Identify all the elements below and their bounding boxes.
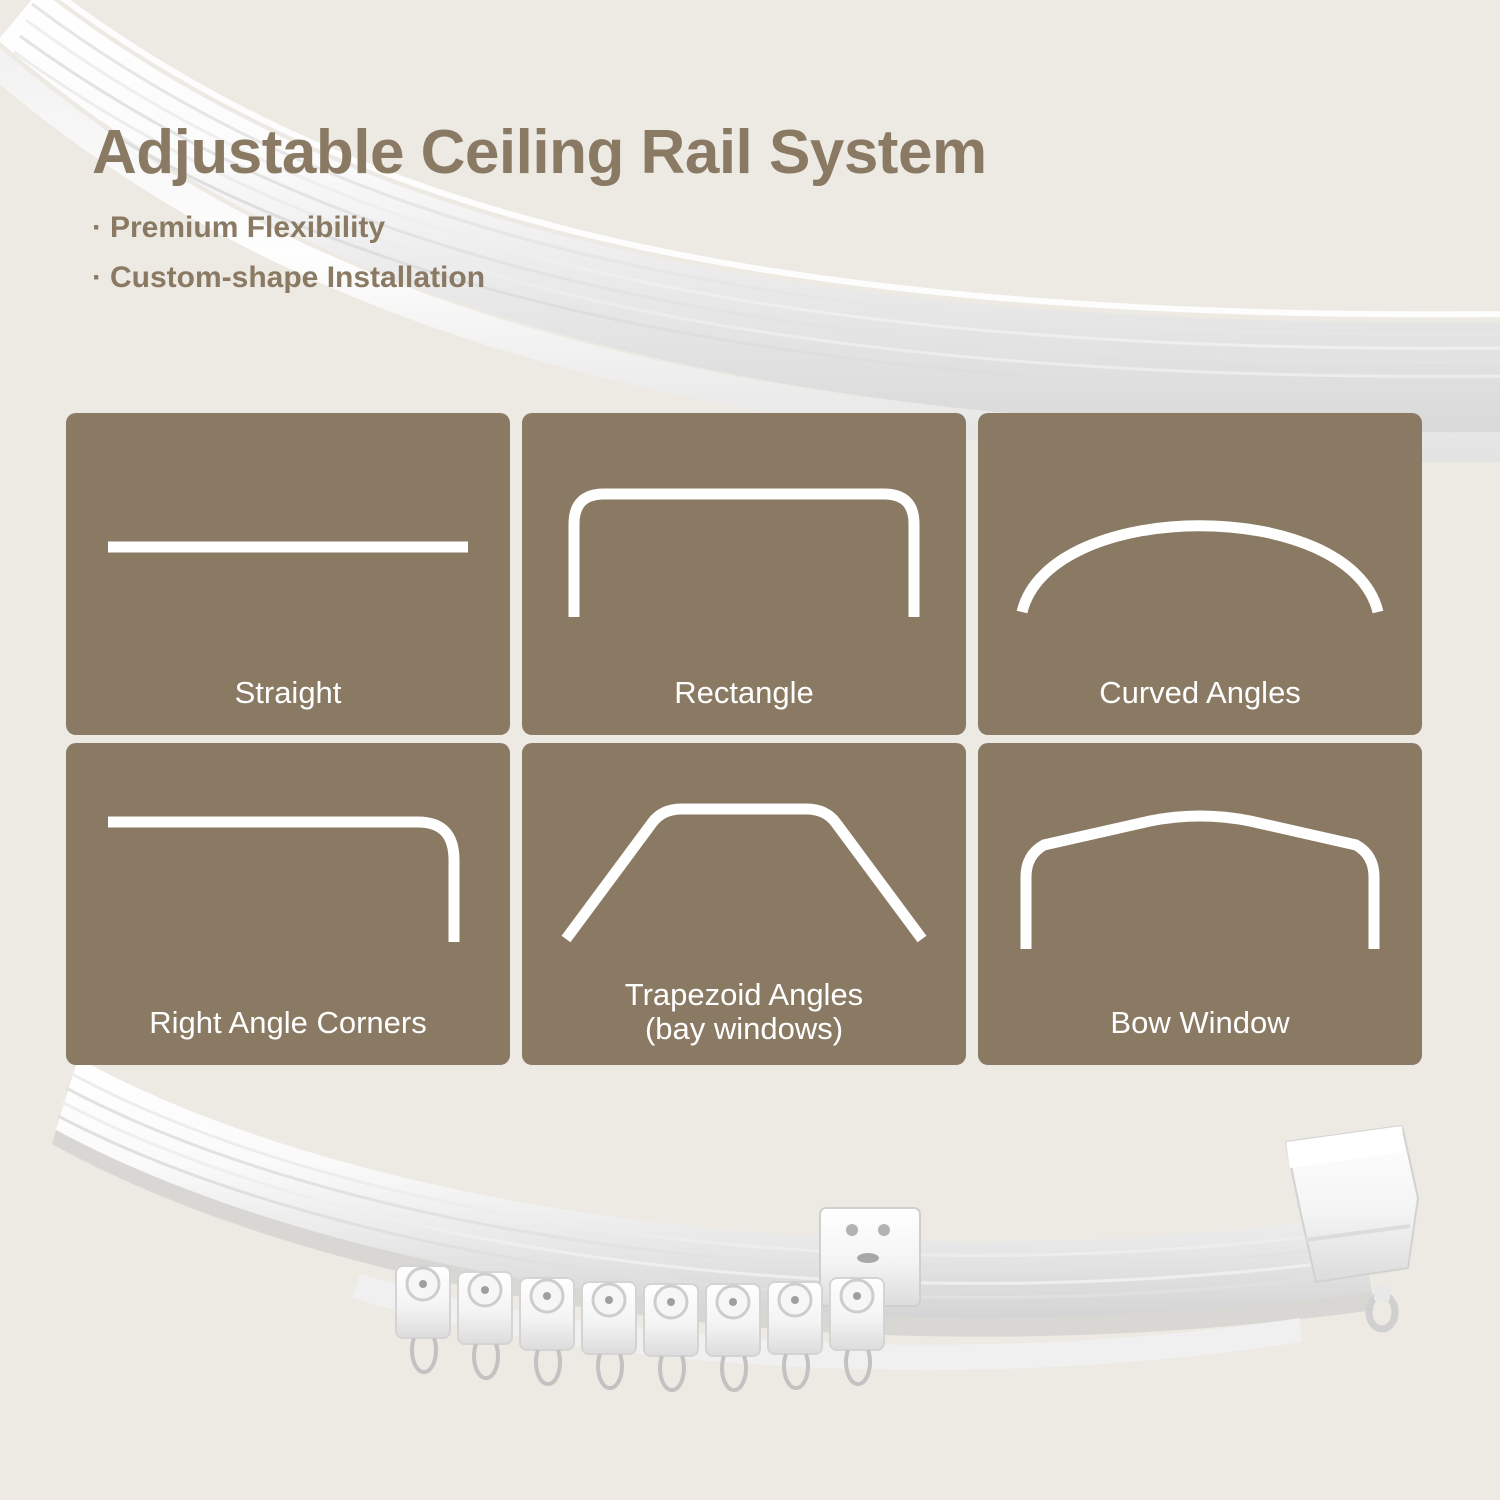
shape-card-straight: Straight: [66, 413, 510, 735]
shape-card-label: Bow Window: [990, 1006, 1410, 1041]
rail-hardware-photo: [0, 1090, 1500, 1500]
roller-glider-group: [396, 1266, 884, 1390]
product-infographic: Adjustable Ceiling Rail System · Premium…: [0, 0, 1500, 1500]
shape-card-label: Rectangle: [534, 676, 954, 711]
rectangle-rail-icon: [522, 459, 966, 634]
trapezoid-rail-icon: [522, 779, 966, 954]
shape-card-bow-window: Bow Window: [978, 743, 1422, 1065]
feature-bullet-label: Custom-shape Installation: [110, 261, 485, 295]
right-angle-rail-icon: [66, 789, 510, 964]
feature-bullet: · Custom-shape Installation: [92, 261, 1342, 295]
shape-card-rectangle: Rectangle: [522, 413, 966, 735]
shape-options-grid: Straight Rectangle Curved Angles: [66, 413, 1434, 1065]
page-title: Adjustable Ceiling Rail System: [92, 120, 1342, 185]
shape-card-sublabel: (bay windows): [534, 1012, 954, 1047]
bow-window-rail-icon: [978, 789, 1422, 964]
bullet-marker-icon: ·: [92, 213, 110, 243]
shape-card-label: Right Angle Corners: [78, 1006, 498, 1041]
feature-bullet-list: · Premium Flexibility · Custom-shape Ins…: [92, 211, 1342, 295]
feature-bullet-label: Premium Flexibility: [110, 211, 385, 245]
roller-glider: [644, 1284, 698, 1390]
roller-glider: [582, 1282, 636, 1388]
bottom-rail-photo: [0, 1030, 1500, 1500]
shape-card-trapezoid-angles: Trapezoid Angles (bay windows): [522, 743, 966, 1065]
straight-rail-icon: [66, 459, 510, 634]
roller-glider: [706, 1284, 760, 1390]
shape-card-label: Trapezoid Angles: [534, 978, 954, 1013]
roller-glider: [520, 1278, 574, 1384]
shape-card-label: Straight: [78, 676, 498, 711]
feature-bullet: · Premium Flexibility: [92, 211, 1342, 245]
shape-card-curved-angles: Curved Angles: [978, 413, 1422, 735]
bullet-marker-icon: ·: [92, 263, 110, 293]
shape-card-right-angle-corners: Right Angle Corners: [66, 743, 510, 1065]
roller-glider: [458, 1272, 512, 1378]
roller-glider: [768, 1282, 822, 1388]
roller-glider: [830, 1278, 884, 1384]
roller-glider: [396, 1266, 450, 1372]
shape-card-label-group: Trapezoid Angles (bay windows): [534, 978, 954, 1047]
ceiling-mount-bracket: [820, 1208, 920, 1306]
curved-rail-icon: [978, 459, 1422, 634]
rail-end-cap: [1286, 1126, 1418, 1329]
shape-card-label: Curved Angles: [990, 676, 1410, 711]
headline-block: Adjustable Ceiling Rail System · Premium…: [92, 120, 1342, 311]
